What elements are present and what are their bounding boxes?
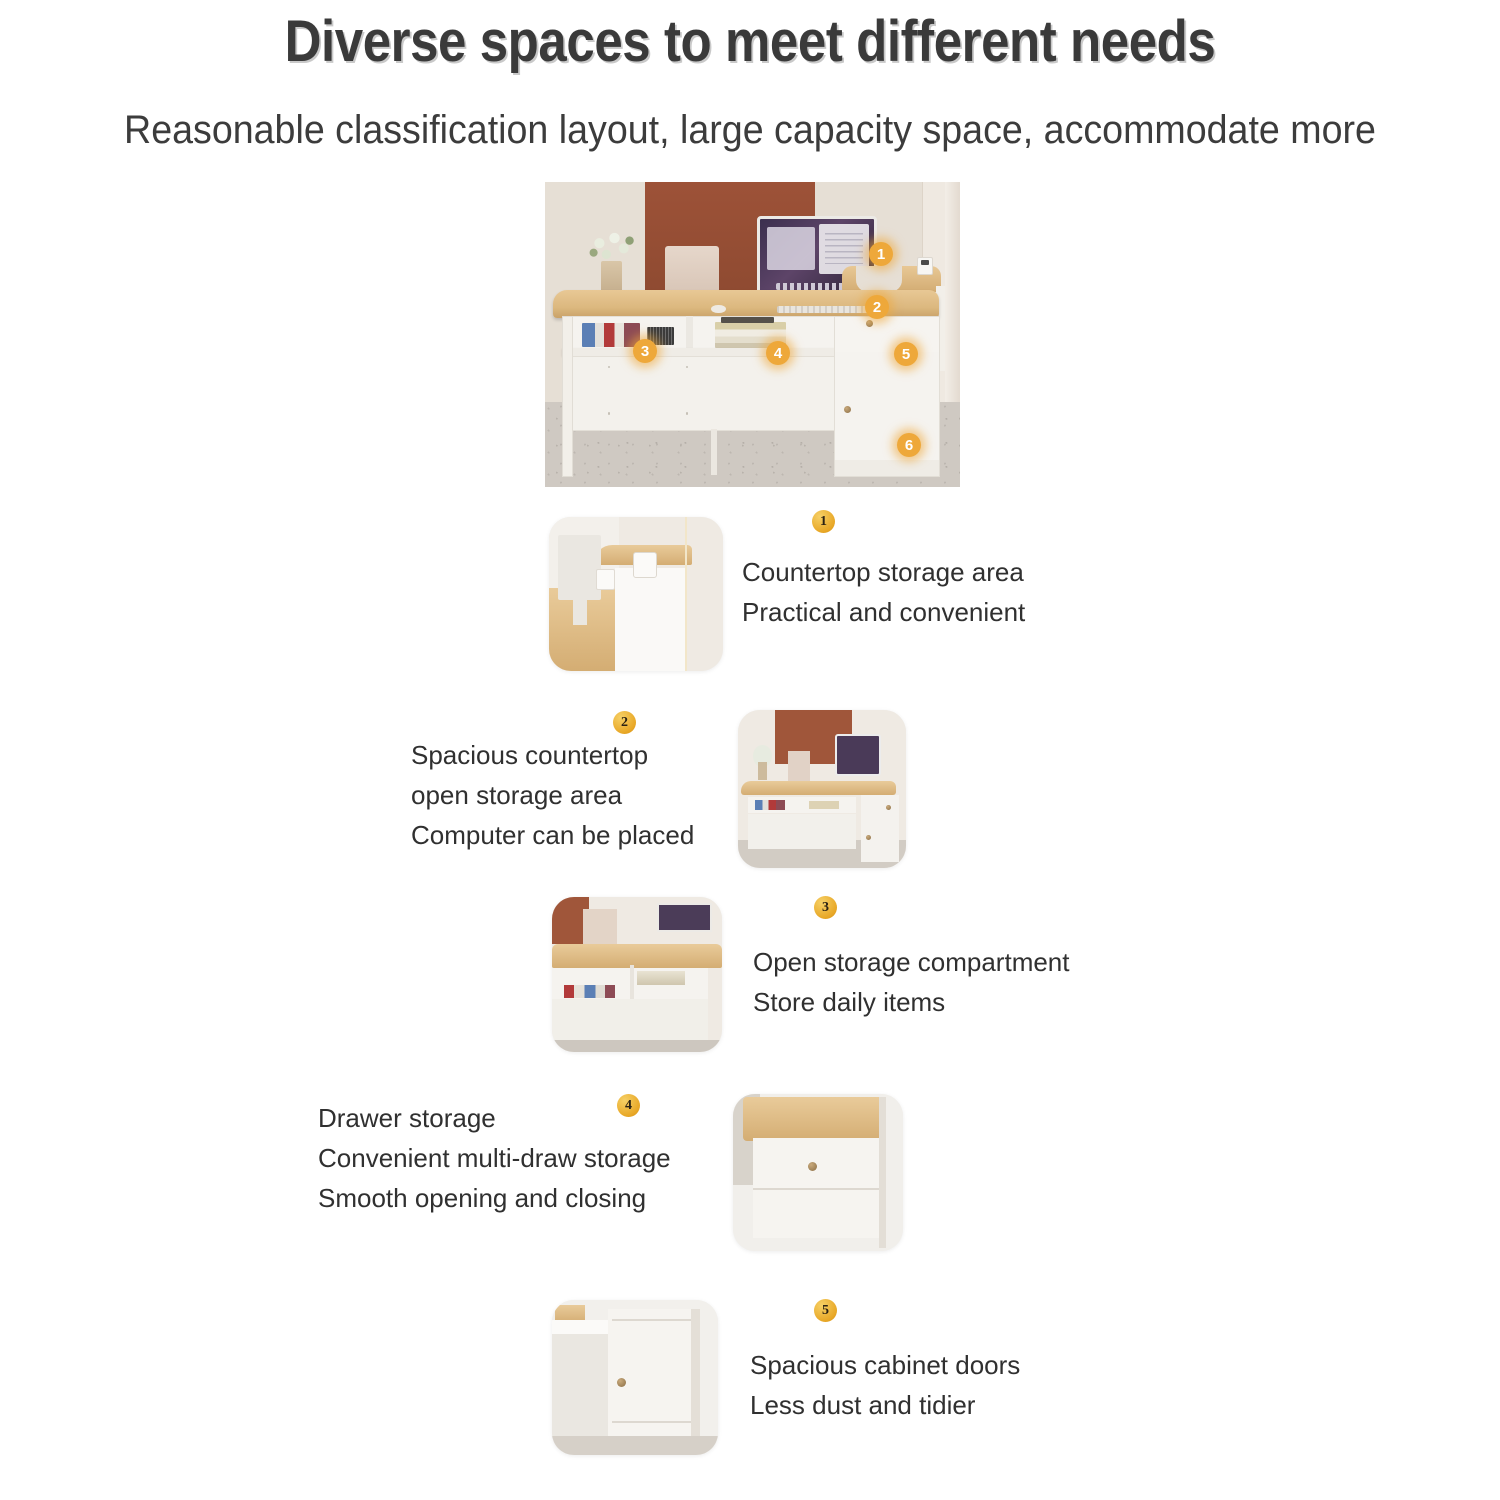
lamp: [665, 246, 719, 295]
thumb2-books-right: [809, 801, 839, 809]
thumb5-door-line-top: [612, 1319, 692, 1321]
cabinet-drawer: [835, 317, 939, 353]
desk-gadget: [917, 257, 933, 276]
feature-5-caption: Spacious cabinet doors Less dust and tid…: [750, 1345, 1020, 1425]
page-subtitle: Reasonable classification layout, large …: [45, 108, 1455, 153]
hero-badge-2: 2: [865, 295, 889, 319]
hero-badge-6: 6: [897, 433, 921, 457]
desk-leg-right: [711, 429, 717, 475]
thumb3-monitor: [657, 903, 712, 932]
thumb2-monitor: [835, 734, 881, 776]
feature-3-image: [552, 897, 722, 1052]
feature-5-image: [552, 1300, 718, 1455]
cabinet-plinth: [835, 460, 939, 476]
thumb1-gadget-large: [633, 552, 658, 577]
thumb2-back-panel: [748, 814, 856, 849]
thumb2-desktop: [741, 781, 896, 795]
thumb2-door-knob-icon: [866, 835, 871, 840]
thumb5-door-line-bottom: [612, 1421, 692, 1423]
desk-back-panel: [562, 356, 846, 431]
feature-2-image: [738, 710, 906, 868]
desk-leg-left: [562, 316, 573, 477]
thumb4-drawer-knob-icon: [808, 1162, 817, 1171]
feature-5-line-1: Spacious cabinet doors: [750, 1345, 1020, 1385]
hero-badge-5: 5: [894, 342, 918, 366]
feature-4-line-3: Smooth opening and closing: [318, 1178, 671, 1218]
page-title: Diverse spaces to meet different needs: [90, 8, 1410, 75]
feature-3-caption: Open storage compartment Store daily ite…: [753, 942, 1070, 1022]
thumb2-vase: [758, 762, 766, 779]
feature-2-badge: 2: [613, 711, 636, 734]
hutch-cutout: [856, 266, 902, 292]
thumb5-interior: [552, 1334, 612, 1439]
feature-4-line-1: Drawer storage: [318, 1098, 671, 1138]
feature-1-caption: Countertop storage area Practical and co…: [742, 552, 1025, 632]
shelf-floor: [562, 348, 844, 355]
thumb4-wood-top: [743, 1097, 882, 1141]
cabinet-unit: [834, 316, 940, 477]
thumb5-side-edge: [691, 1309, 699, 1442]
feature-2-line-2: open storage area: [411, 775, 694, 815]
mouse: [711, 305, 726, 314]
feature-4-caption: Drawer storage Convenient multi-draw sto…: [318, 1098, 671, 1218]
thumb2-drawer-knob-icon: [886, 805, 891, 810]
thumb1-monitor-neck: [573, 591, 587, 625]
feature-4-image: [733, 1094, 903, 1251]
thumb5-door-knob-icon: [617, 1378, 626, 1387]
thumb1-cabinet: [615, 568, 685, 671]
hero-badge-4: 4: [766, 341, 790, 365]
thumb5-floor: [552, 1436, 718, 1455]
thumb3-desktop: [552, 944, 722, 969]
door-knob-icon: [844, 406, 851, 413]
feature-2-line-1: Spacious countertop: [411, 735, 694, 775]
window-a: [767, 227, 815, 270]
shelf-divider: [686, 316, 693, 351]
feature-2-line-3: Computer can be placed: [411, 815, 694, 855]
books-left: [582, 323, 640, 347]
feature-5-line-2: Less dust and tidier: [750, 1385, 1020, 1425]
hero-badge-3: 3: [633, 339, 657, 363]
thumb2-books-left: [755, 800, 785, 809]
thumb1-light-strip: [685, 517, 687, 671]
feature-1-line-2: Practical and convenient: [742, 592, 1025, 632]
thumb2-cabinet: [861, 795, 900, 861]
feature-1-badge: 1: [812, 510, 835, 533]
thumb4-edge: [879, 1097, 886, 1248]
thumb3-books-right: [637, 971, 685, 985]
feature-1-image: [549, 517, 723, 671]
feature-1-line-1: Countertop storage area: [742, 552, 1025, 592]
feature-3-line-1: Open storage compartment: [753, 942, 1070, 982]
feature-4-line-2: Convenient multi-draw storage: [318, 1138, 671, 1178]
thumb2-lamp: [788, 751, 810, 783]
cabinet-door: [835, 352, 939, 461]
keyboard: [777, 306, 877, 314]
feature-2-caption: Spacious countertop open storage area Co…: [411, 735, 694, 855]
thumb4-drawer-seam: [753, 1188, 882, 1190]
thumb1-gadget-small: [596, 569, 615, 589]
thumb3-shelf-divider: [630, 965, 634, 999]
feature-3-badge: 3: [814, 896, 837, 919]
feature-5-badge: 5: [814, 1299, 837, 1322]
drawer-knob-icon: [866, 320, 873, 327]
feature-3-line-2: Store daily items: [753, 982, 1070, 1022]
thumb3-floor: [552, 1040, 722, 1052]
thumb3-books-left: [564, 985, 615, 997]
hero-badge-1: 1: [869, 242, 893, 266]
